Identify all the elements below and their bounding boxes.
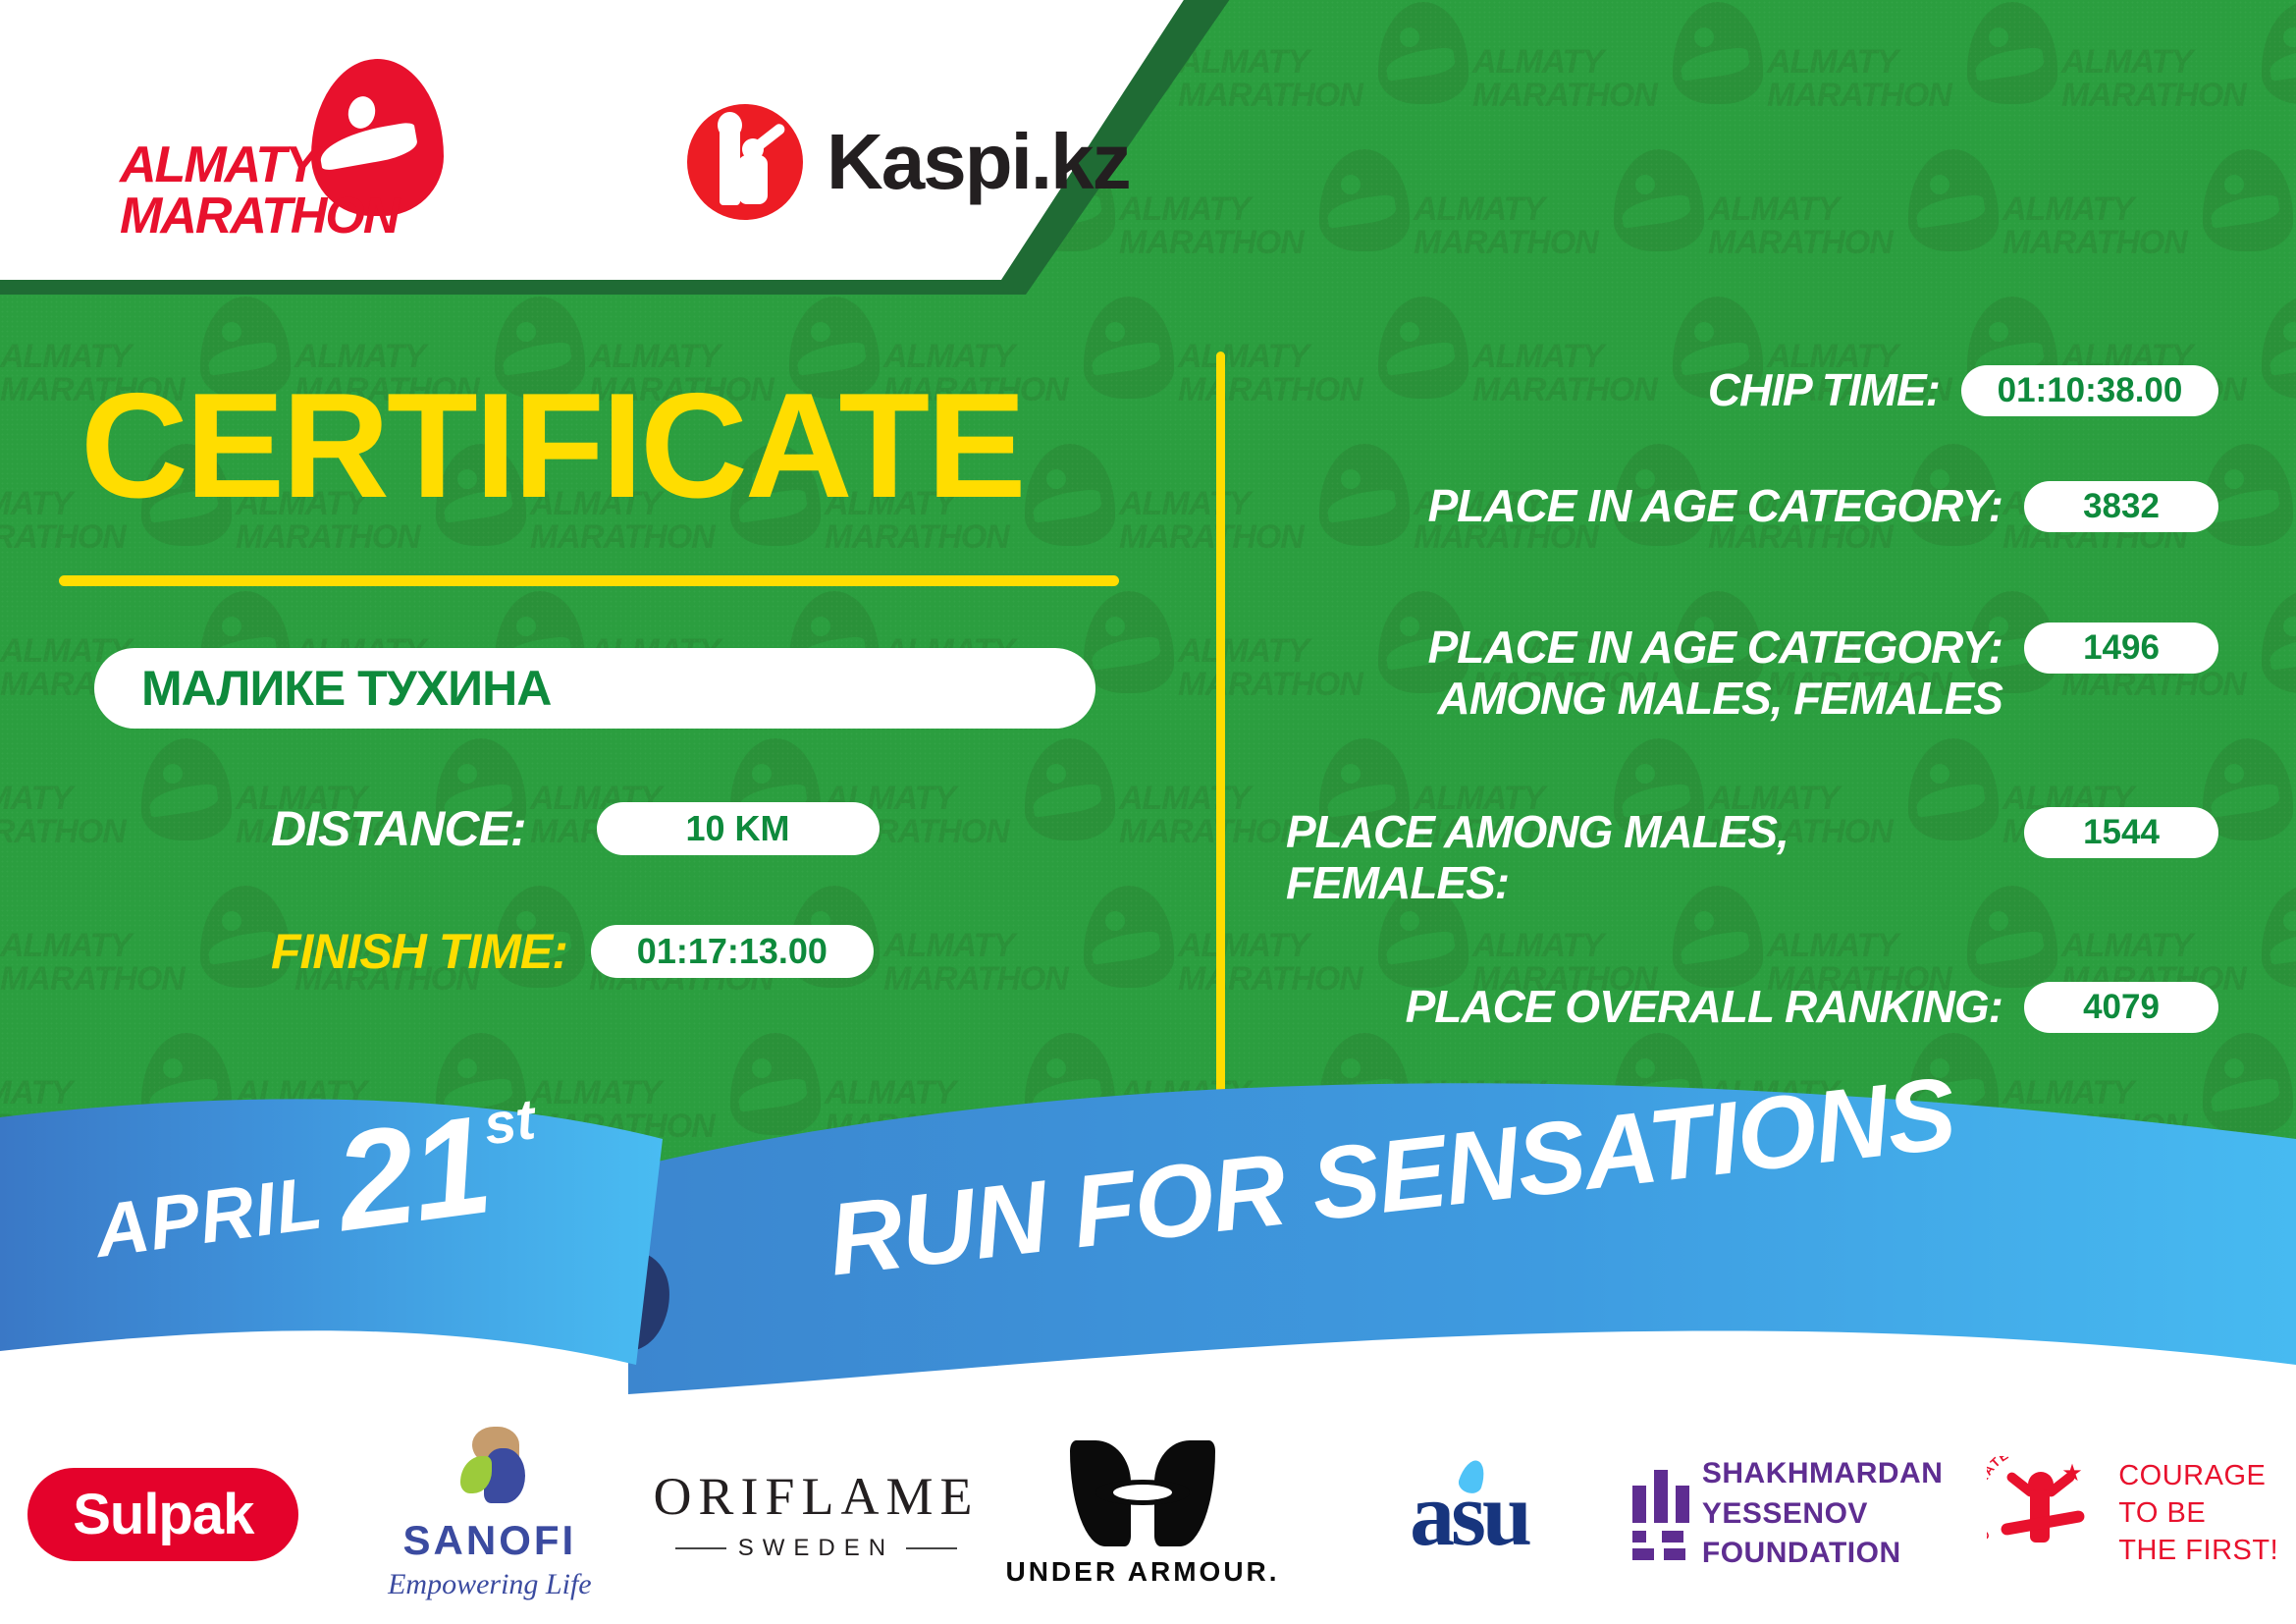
place-among-label-line2: FEMALES: <box>1286 858 2002 909</box>
runner-name-value: МАЛИКЕ ТУХИНА <box>141 660 551 717</box>
watermark-tile: ALMATYMARATHON <box>1119 147 1414 273</box>
right-stats-panel: CHIP TIME: 01:10:38.00 PLACE IN AGE CATE… <box>1286 365 2218 1060</box>
sponsor-under-armour: UNDER ARMOUR. <box>980 1404 1307 1624</box>
stat-row-place-age-category: PLACE IN AGE CATEGORY: 3832 <box>1286 481 2218 623</box>
watermark-tile: ALMATYMARATHON <box>2061 0 2296 126</box>
kaspi-logo-text: Kaspi.kz <box>827 123 1130 201</box>
watermark-tile: ALMATYMARATHON <box>1767 0 2061 126</box>
corporate-fund-line1: COURAGE <box>2118 1458 2278 1495</box>
watermark-tile: ALMATYMARATHON <box>0 736 236 862</box>
event-day: 21 <box>329 1099 496 1250</box>
place-among-value: 1544 <box>2024 807 2218 858</box>
oriflame-sub-text: SWEDEN <box>738 1535 894 1562</box>
watermark-tile: ALMATYMARATHON <box>2002 147 2296 273</box>
place-among-label: PLACE AMONG MALES, FEMALES: <box>1286 807 2024 908</box>
corporate-fund-figure-icon: CORPORATE FUND ★ <box>1987 1456 2105 1572</box>
watermark-tile: ALMATYMARATHON <box>883 884 1178 1009</box>
place-age-category-among-label-line1: PLACE IN AGE CATEGORY: <box>1286 623 2002 674</box>
under-armour-logo-text: UNDER ARMOUR. <box>1005 1556 1279 1588</box>
stat-row-finish-time: FINISH TIME: 01:17:13.00 <box>271 923 874 980</box>
runner-name-field: МАЛИКЕ ТУХИНА <box>94 648 1095 729</box>
place-overall-label: PLACE OVERALL RANKING: <box>1286 982 2024 1033</box>
sponsor-oriflame: ORIFLAME SWEDEN <box>653 1404 980 1624</box>
watermark-tile: ALMATYMARATHON <box>1472 0 1767 126</box>
vertical-divider <box>1216 352 1225 1098</box>
title-underline <box>59 575 1119 586</box>
distance-value: 10 KM <box>597 802 880 855</box>
sponsor-corporate-fund: CORPORATE FUND ★ COURAGE TO BE THE FIRST… <box>1969 1404 2296 1624</box>
stat-row-distance: DISTANCE: 10 KM <box>271 800 880 857</box>
sanofi-blob-icon <box>443 1427 537 1509</box>
place-age-category-label: PLACE IN AGE CATEGORY: <box>1286 481 2024 532</box>
chip-time-label: CHIP TIME: <box>1286 365 1961 416</box>
sulpak-logo-text: Sulpak <box>27 1468 298 1561</box>
sponsor-sulpak: Sulpak <box>0 1404 327 1624</box>
place-age-category-among-label: PLACE IN AGE CATEGORY: AMONG MALES, FEMA… <box>1286 623 2024 724</box>
yessenov-logo-text: SHAKHMARDAN YESSENOV FOUNDATION <box>1702 1454 1970 1574</box>
watermark-tile: ALMATYMARATHON <box>1178 0 1472 126</box>
almaty-marathon-logo: ALMATY MARATHON <box>120 59 444 216</box>
sponsor-sanofi: SANOFI Empowering Life <box>327 1404 654 1624</box>
finish-time-value: 01:17:13.00 <box>591 925 874 978</box>
chip-time-value: 01:10:38.00 <box>1961 365 2218 416</box>
watermark-tile: ALMATYMARATHON <box>1414 147 1708 273</box>
sanofi-logo-text: SANOFI <box>388 1517 592 1564</box>
page-title: CERTIFICATE <box>80 371 1024 520</box>
watermark-tile: ALMATYMARATHON <box>0 884 294 1009</box>
corporate-fund-line3: THE FIRST! <box>2118 1533 2278 1570</box>
watermark-tile: ALMATYMARATHON <box>1708 147 2002 273</box>
stat-row-place-age-category-among: PLACE IN AGE CATEGORY: AMONG MALES, FEMA… <box>1286 623 2218 807</box>
certificate-canvas: ALMATYMARATHONALMATYMARATHONALMATYMARATH… <box>0 0 2296 1624</box>
stat-row-place-among-males-females: PLACE AMONG MALES, FEMALES: 1544 <box>1286 807 2218 982</box>
corporate-fund-line2: TO BE <box>2118 1495 2278 1533</box>
place-age-category-among-value: 1496 <box>2024 623 2218 674</box>
oriflame-rule-left <box>675 1547 726 1549</box>
corporate-fund-text: COURAGE TO BE THE FIRST! <box>2118 1458 2278 1569</box>
almaty-logo-line1: ALMATY <box>120 135 317 194</box>
stat-row-chip-time: CHIP TIME: 01:10:38.00 <box>1286 365 2218 481</box>
kaspi-people-circle-icon <box>687 104 803 220</box>
kaspi-logo: Kaspi.kz <box>687 103 1130 221</box>
stat-row-place-overall: PLACE OVERALL RANKING: 4079 <box>1286 982 2218 1060</box>
place-age-category-among-label-line2: AMONG MALES, FEMALES <box>1286 674 2002 725</box>
oriflame-logo-text: ORIFLAME <box>653 1466 979 1527</box>
sanofi-tagline: Empowering Life <box>388 1568 592 1601</box>
yessenov-line1: SHAKHMARDAN YESSENOV <box>1702 1454 1970 1534</box>
under-armour-icon <box>1070 1440 1215 1546</box>
place-overall-value: 4079 <box>2024 982 2218 1033</box>
place-age-category-value: 3832 <box>2024 481 2218 532</box>
oriflame-rule-right <box>906 1547 957 1549</box>
finish-time-label: FINISH TIME: <box>271 923 567 980</box>
sponsor-yessenov: SHAKHMARDAN YESSENOV FOUNDATION <box>1632 1404 1970 1624</box>
sponsor-asu: asu <box>1306 1404 1632 1624</box>
distance-label: DISTANCE: <box>271 800 526 857</box>
sponsor-bar: Sulpak SANOFI Empowering Life ORIFLAME S… <box>0 1404 2296 1624</box>
yessenov-line2: FOUNDATION <box>1702 1534 1970 1574</box>
place-among-label-line1: PLACE AMONG MALES, <box>1286 807 2002 858</box>
yessenov-bars-icon <box>1632 1470 1681 1558</box>
almaty-logo-line2: MARATHON <box>120 187 398 245</box>
event-day-ordinal: st <box>480 1086 539 1158</box>
